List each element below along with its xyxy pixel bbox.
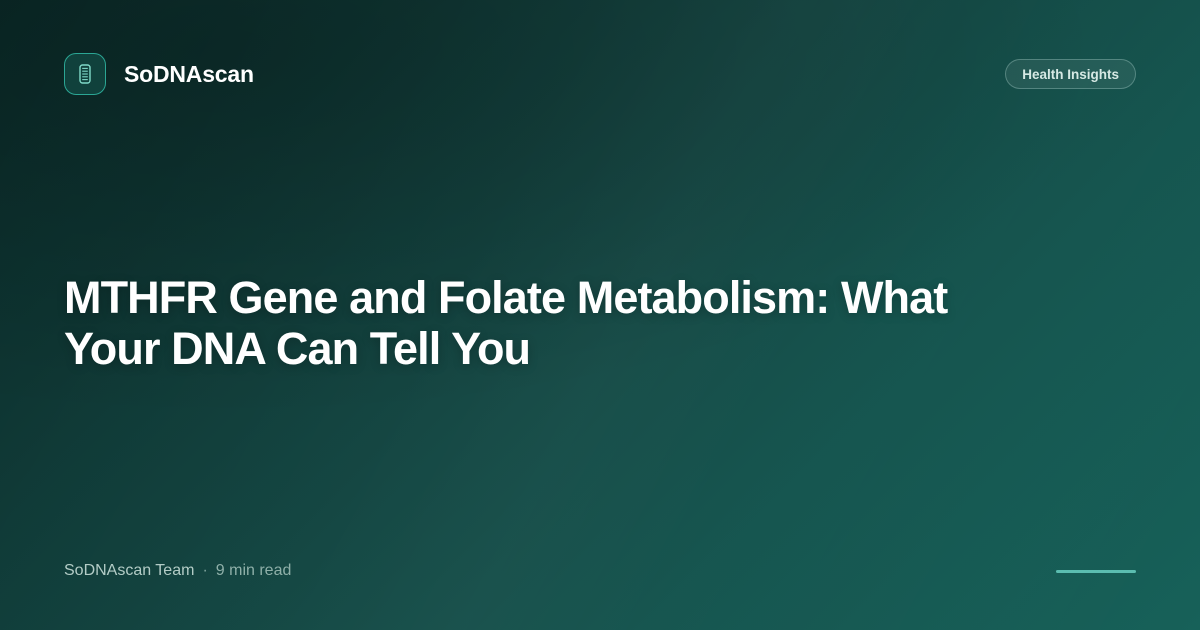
status-badge[interactable]: Health Insights bbox=[1005, 59, 1136, 89]
dna-icon bbox=[79, 64, 91, 84]
brand-name: SoDNAscan bbox=[124, 61, 254, 88]
read-time: 9 min read bbox=[216, 562, 292, 580]
logo-tile bbox=[64, 53, 106, 95]
card-footer: SoDNAscan Team · 9 min read bbox=[64, 560, 1136, 582]
brand-lockup[interactable]: SoDNAscan bbox=[64, 53, 254, 95]
accent-rule bbox=[1056, 570, 1136, 573]
meta-separator: · bbox=[202, 562, 207, 580]
card-header: SoDNAscan Health Insights bbox=[64, 52, 1136, 96]
author-name: SoDNAscan Team bbox=[64, 562, 194, 580]
title-block: MTHFR Gene and Folate Metabolism: What Y… bbox=[64, 272, 1044, 374]
share-card: SoDNAscan Health Insights MTHFR Gene and… bbox=[0, 0, 1200, 630]
page-title: MTHFR Gene and Folate Metabolism: What Y… bbox=[64, 272, 1044, 374]
byline: SoDNAscan Team · 9 min read bbox=[64, 562, 291, 580]
